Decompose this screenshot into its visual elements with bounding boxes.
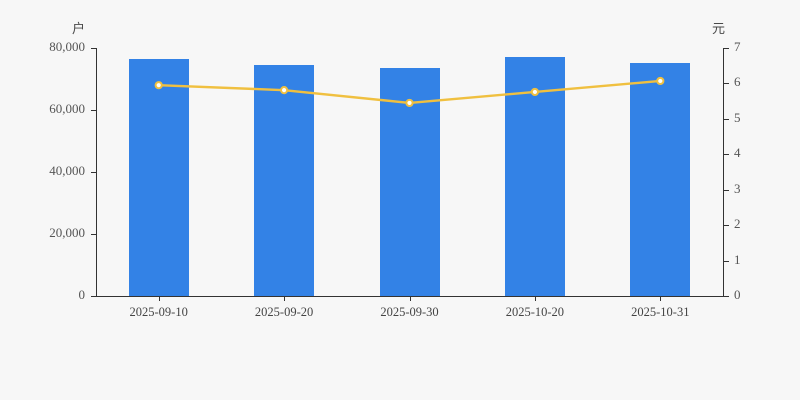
right-axis-tick-mark — [724, 296, 729, 297]
left-axis-tick-mark — [91, 48, 96, 49]
right-axis-tick-label: 3 — [734, 181, 741, 197]
right-axis-tick-label: 0 — [734, 287, 741, 303]
x-axis-tick-mark — [159, 296, 160, 301]
right-axis-unit-label: 元 — [712, 18, 725, 37]
left-axis-tick-label: 40,000 — [0, 163, 85, 179]
left-axis-tick-label: 0 — [0, 287, 85, 303]
x-axis-tick-label: 2025-09-10 — [99, 305, 219, 320]
x-axis-tick-mark — [410, 296, 411, 301]
bar-2025-09-20[interactable] — [254, 65, 314, 296]
right-axis-tick-label: 5 — [734, 110, 741, 126]
x-axis-tick-label: 2025-10-20 — [475, 305, 595, 320]
right-axis-tick-mark — [724, 190, 729, 191]
bar-2025-09-10[interactable] — [129, 59, 189, 296]
right-axis-tick-label: 2 — [734, 216, 741, 232]
right-axis-tick-mark — [724, 119, 729, 120]
x-axis-tick-label: 2025-09-20 — [224, 305, 344, 320]
x-axis-tick-mark — [535, 296, 536, 301]
right-axis-tick-mark — [724, 261, 729, 262]
x-axis-tick-label: 2025-09-30 — [350, 305, 470, 320]
left-axis-tick-mark — [91, 234, 96, 235]
chart-container: 户 元 020,00040,00060,00080,000 01234567 2… — [0, 0, 800, 400]
bar-2025-10-20[interactable] — [505, 57, 565, 296]
right-axis-tick-label: 1 — [734, 252, 741, 268]
bar-2025-10-31[interactable] — [630, 63, 690, 296]
left-axis-tick-mark — [91, 110, 96, 111]
right-axis-tick-mark — [724, 48, 729, 49]
x-axis-tick-mark — [660, 296, 661, 301]
right-axis-line — [723, 48, 724, 297]
left-axis-tick-mark — [91, 172, 96, 173]
right-axis-tick-mark — [724, 225, 729, 226]
left-axis-tick-mark — [91, 296, 96, 297]
right-axis-tick-mark — [724, 83, 729, 84]
x-axis-tick-mark — [284, 296, 285, 301]
left-axis-line — [96, 48, 97, 297]
right-axis-tick-label: 7 — [734, 39, 741, 55]
left-axis-unit-label: 户 — [72, 18, 85, 37]
left-axis-tick-label: 20,000 — [0, 225, 85, 241]
left-axis-tick-label: 60,000 — [0, 101, 85, 117]
right-axis-tick-label: 4 — [734, 145, 741, 161]
x-axis-tick-label: 2025-10-31 — [600, 305, 720, 320]
bar-2025-09-30[interactable] — [380, 68, 440, 296]
right-axis-tick-mark — [724, 154, 729, 155]
left-axis-tick-label: 80,000 — [0, 39, 85, 55]
right-axis-tick-label: 6 — [734, 74, 741, 90]
